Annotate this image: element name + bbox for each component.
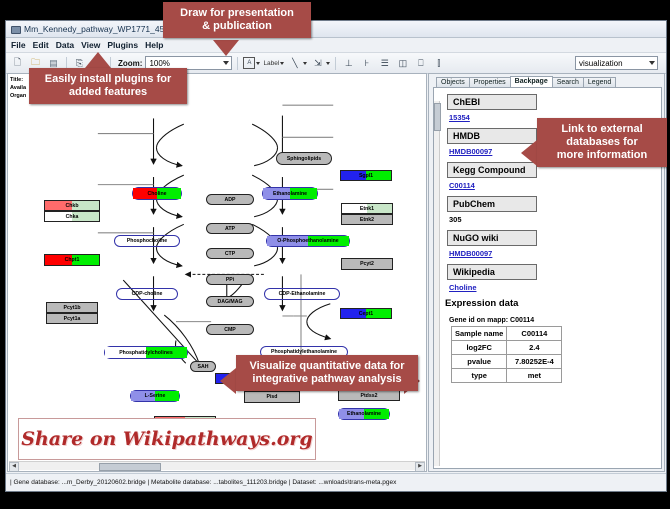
pathway-node-label: Chkb: [66, 203, 79, 209]
pathway-node-gene[interactable]: Ptdss2: [338, 390, 400, 401]
link-callout-arrow: [521, 140, 537, 166]
pathway-node-label: PPi: [226, 277, 234, 283]
pathway-node-metabolite[interactable]: L-Serine: [130, 390, 180, 402]
menu-item-file[interactable]: File: [11, 40, 26, 50]
text-tool-dropdown[interactable]: A: [243, 57, 260, 69]
pathway-node-label: Chpt1: [65, 257, 80, 263]
pathway-node-gene[interactable]: Pcyt2: [341, 258, 393, 270]
link-wikipedia[interactable]: Choline: [449, 283, 661, 292]
label-tool-dropdown[interactable]: Label: [263, 60, 284, 67]
table-row: Sample name C00114: [452, 327, 562, 341]
toolbar-separator-4: [335, 57, 336, 70]
value-pubchem: 305: [449, 215, 661, 224]
pathway-node-metabolite[interactable]: ADP: [206, 194, 254, 205]
cell-key: type: [452, 369, 507, 383]
chevron-down-icon: [649, 61, 655, 65]
cell-value: C00114: [507, 327, 562, 341]
pathway-node-gene[interactable]: Chpt1: [44, 254, 100, 266]
pathway-node-label: ATP: [225, 226, 235, 232]
pathway-node-metabolite[interactable]: Choline: [132, 187, 182, 200]
pathway-node-metabolite[interactable]: ATP: [206, 223, 254, 234]
table-row: type met: [452, 369, 562, 383]
chevron-down-icon: [280, 62, 284, 65]
section-header-chebi: ChEBI: [447, 94, 537, 110]
pathway-node-label: Etnk1: [360, 206, 374, 212]
pathway-node-label: SAH: [198, 364, 209, 370]
cell-key: Sample name: [452, 327, 507, 341]
draw-callout: Draw for presentation& publication: [163, 2, 311, 38]
pathway-node-label: Pcyt1a: [64, 316, 81, 322]
cell-value: 2.4: [507, 341, 562, 355]
expression-data-title: Expression data: [445, 298, 661, 309]
canvas-hscrollbar[interactable]: ◀ ▶: [9, 461, 425, 470]
share-banner: Share on Wikipathways.org: [18, 418, 316, 460]
link-nugo[interactable]: HMDB00097: [449, 249, 661, 258]
pathway-node-label: Sgpl1: [359, 173, 373, 179]
plugins-callout: Easily install plugins foradded features: [29, 68, 187, 104]
pathway-node-metabolite[interactable]: SAH: [190, 361, 216, 372]
tab-properties[interactable]: Properties: [469, 77, 511, 88]
chevron-down-icon: [256, 62, 260, 65]
interaction-tool-dropdown[interactable]: ⇲: [310, 56, 330, 71]
visualization-combo[interactable]: visualization: [575, 56, 658, 70]
tab-legend[interactable]: Legend: [583, 77, 616, 88]
screenshot-root: Mm_Kennedy_pathway_WP1771_45176.gpml Fil…: [0, 0, 670, 509]
plugins-callout-arrow: [85, 52, 111, 68]
table-row: pvalue 7.80252E-4: [452, 355, 562, 369]
menu-item-help[interactable]: Help: [145, 40, 163, 50]
pathway-node-metabolite[interactable]: CDP-Ethanolamine: [264, 288, 340, 300]
zoom-value: 100%: [149, 59, 169, 68]
pathway-node-gene[interactable]: Chka: [44, 211, 100, 222]
table-row: log2FC 2.4: [452, 341, 562, 355]
pathway-node-gene[interactable]: Cept1: [340, 308, 392, 319]
pathway-node-label: Chka: [66, 214, 79, 220]
pathway-node-label: CDP-Ethanolamine: [279, 291, 326, 297]
zoom-label: Zoom:: [118, 59, 142, 68]
new-file-icon[interactable]: 🗋: [10, 56, 25, 71]
tab-search[interactable]: Search: [552, 77, 584, 88]
pathway-node-label: Choline: [147, 191, 166, 197]
text-tool-icon[interactable]: A: [243, 57, 255, 69]
visualization-value: visualization: [579, 59, 623, 68]
menu-bar: File Edit Data View Plugins Help: [6, 38, 666, 53]
link-kegg[interactable]: C00114: [449, 181, 661, 190]
pathway-node-label: Pisd: [267, 394, 278, 400]
align-top-icon[interactable]: ⊥: [341, 56, 356, 71]
section-header-wikipedia: Wikipedia: [447, 264, 537, 280]
align-left-icon[interactable]: ⊦: [359, 56, 374, 71]
line-tool-dropdown[interactable]: ╲: [287, 56, 307, 71]
menu-item-data[interactable]: Data: [56, 40, 74, 50]
pathway-node-label: Phosphatidylcholines: [119, 350, 173, 356]
pathway-node-label: CDP-choline: [132, 291, 163, 297]
pathway-node-label: Ptdss2: [360, 393, 377, 399]
chevron-down-icon: [326, 62, 330, 65]
pathway-node-metabolite[interactable]: Phosphocholine: [114, 235, 180, 247]
pathway-node-label: L-Serine: [145, 393, 166, 399]
visualize-callout-arrow-left: [220, 368, 236, 394]
scroll-thumb[interactable]: [99, 463, 161, 471]
pathway-node-label: CMP: [224, 327, 236, 333]
link-callout: Link to externaldatabases formore inform…: [537, 118, 667, 167]
pathway-node-gene[interactable]: Pisd: [244, 391, 300, 403]
expression-table: Sample name C00114 log2FC 2.4 pvalue 7.8…: [451, 326, 562, 383]
tab-objects[interactable]: Objects: [436, 77, 470, 88]
cell-value: met: [507, 369, 562, 383]
pathway-node-label: Ethanolamine: [347, 411, 381, 417]
pathway-node-metabolite[interactable]: CTP: [206, 248, 254, 259]
section-header-nugo: NuGO wiki: [447, 230, 537, 246]
tab-backpage[interactable]: Backpage: [510, 76, 553, 88]
pathway-node-label: Sphingolipids: [287, 156, 321, 162]
title-bar: Mm_Kennedy_pathway_WP1771_45176.gpml: [6, 21, 666, 38]
menu-item-edit[interactable]: Edit: [33, 40, 49, 50]
stack-icon[interactable]: ☰: [377, 56, 392, 71]
status-bar: | Gene database: ...m_Derby_20120602.bri…: [6, 473, 666, 491]
menu-item-view[interactable]: View: [81, 40, 100, 50]
pathway-node-label: CTP: [225, 251, 235, 257]
toolbar-separator-3: [237, 57, 238, 70]
pathway-node-label: Ethanolamine: [273, 191, 307, 197]
common-width-icon[interactable]: ⎕: [413, 56, 428, 71]
pathway-node-metabolite[interactable]: Sphingolipids: [276, 152, 332, 165]
chevron-down-icon: [223, 61, 229, 65]
pathway-canvas[interactable]: Title: Availa Organ: [7, 73, 427, 472]
menu-item-plugins[interactable]: Plugins: [107, 40, 138, 50]
pathway-node-label: Pcyt2: [360, 261, 374, 267]
pathway-node-label: Etnk2: [360, 217, 374, 223]
side-panel-tabs: Objects Properties Backpage Search Legen…: [429, 74, 664, 87]
common-height-icon[interactable]: ⫿: [431, 56, 446, 71]
pathway-node-metabolite[interactable]: Phosphatidylcholines: [104, 346, 188, 359]
pathway-node-metabolite[interactable]: DAG/MAG: [206, 296, 254, 307]
pathway-node-gene[interactable]: Chkb: [44, 200, 100, 211]
distribute-icon[interactable]: ◫: [395, 56, 410, 71]
section-header-pubchem: PubChem: [447, 196, 537, 212]
pathway-node-label: DAG/MAG: [217, 299, 242, 305]
interaction-tool-icon[interactable]: ⇲: [310, 56, 325, 71]
label-tool-icon[interactable]: Label: [263, 60, 279, 67]
scroll-right-arrow[interactable]: ▶: [415, 462, 425, 472]
pathway-node-metabolite[interactable]: CMP: [206, 324, 254, 335]
pathway-node-gene[interactable]: Etnk1: [341, 203, 393, 214]
pathway-node-label: ADP: [225, 197, 236, 203]
status-text: | Gene database: ...m_Derby_20120602.bri…: [6, 479, 396, 486]
pathway-node-label: Cept1: [359, 311, 373, 317]
scroll-left-arrow[interactable]: ◀: [9, 462, 19, 472]
visualize-callout: Visualize quantitative data forintegrati…: [236, 355, 418, 391]
pathway-node-label: Pcyt1b: [63, 305, 80, 311]
pathway-node-gene[interactable]: Etnk2: [341, 214, 393, 225]
pathway-node-gene[interactable]: Sgpl1: [340, 170, 392, 181]
gene-id-label: Gene id on mapp: C00114: [449, 317, 661, 324]
cell-value: 7.80252E-4: [507, 355, 562, 369]
pathway-node-label: Phosphocholine: [127, 238, 167, 244]
cell-key: pvalue: [452, 355, 507, 369]
pathway-node-metabolite[interactable]: O-Phosphoethanolamine: [266, 235, 350, 247]
pathway-node-metabolite[interactable]: PPi: [206, 274, 254, 285]
pathvisio-icon: [10, 24, 20, 34]
pathway-node-metabolite[interactable]: Ethanolamine: [338, 408, 390, 420]
line-tool-icon[interactable]: ╲: [287, 56, 302, 71]
share-banner-text: Share on Wikipathways.org: [21, 428, 312, 450]
pathway-node-label: O-Phosphoethanolamine: [277, 238, 338, 244]
cell-key: log2FC: [452, 341, 507, 355]
backpage-vscrollbar[interactable]: [434, 101, 440, 466]
chevron-down-icon: [303, 62, 307, 65]
pathway-node-metabolite[interactable]: Ethanolamine: [262, 187, 318, 200]
pathway-node-gene[interactable]: Pcyt1b: [46, 302, 98, 313]
scroll-thumb[interactable]: [434, 103, 441, 131]
pathway-node-metabolite[interactable]: CDP-choline: [116, 288, 178, 300]
draw-callout-arrow: [213, 40, 239, 56]
pathway-node-gene[interactable]: Pcyt1a: [46, 313, 98, 324]
